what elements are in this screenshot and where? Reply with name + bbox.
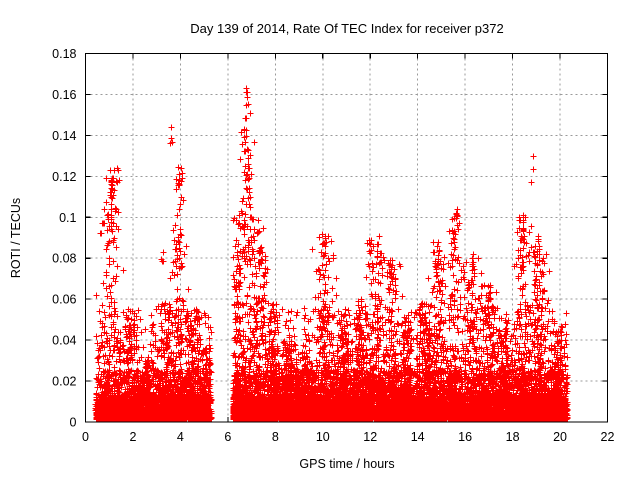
x-tick-label: 0 <box>82 430 89 444</box>
y-tick-label: 0.14 <box>52 129 76 143</box>
x-tick-label: 12 <box>363 430 377 444</box>
y-tick-label: 0 <box>70 416 77 430</box>
x-tick-label: 16 <box>458 430 472 444</box>
x-tick-label: 22 <box>601 430 615 444</box>
x-tick-label: 2 <box>129 430 136 444</box>
y-tick-label: 0.1 <box>59 211 76 225</box>
y-tick-label: 0.12 <box>52 170 76 184</box>
y-tick-label: 0.08 <box>52 252 76 266</box>
x-tick-label: 6 <box>224 430 231 444</box>
chart-container: Day 139 of 2014, Rate Of TEC Index for r… <box>0 0 640 480</box>
roti-scatter-plot: Day 139 of 2014, Rate Of TEC Index for r… <box>0 0 640 480</box>
x-tick-label: 20 <box>553 430 567 444</box>
x-tick-label: 18 <box>506 430 520 444</box>
x-axis-label: GPS time / hours <box>299 457 394 471</box>
y-tick-label: 0.02 <box>52 375 76 389</box>
y-tick-label: 0.04 <box>52 334 76 348</box>
x-tick-label: 4 <box>177 430 184 444</box>
chart-title: Day 139 of 2014, Rate Of TEC Index for r… <box>190 21 503 36</box>
x-tick-label: 10 <box>316 430 330 444</box>
y-axis-label: ROTI / TECUs <box>9 198 23 278</box>
y-tick-label: 0.16 <box>52 88 76 102</box>
x-tick-label: 8 <box>272 430 279 444</box>
y-tick-label: 0.06 <box>52 293 76 307</box>
x-tick-label: 14 <box>411 430 425 444</box>
y-tick-label: 0.18 <box>52 47 76 61</box>
